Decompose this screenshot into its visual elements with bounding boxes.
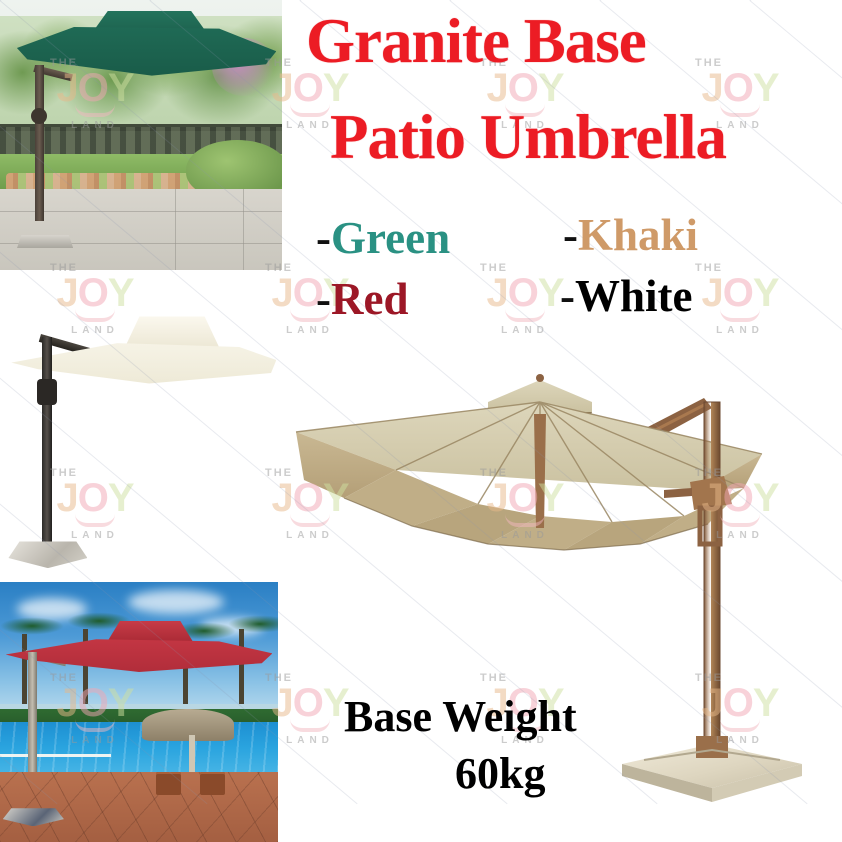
base-weight-label: Base Weight <box>344 695 577 739</box>
watermark-joy: JOY <box>486 274 563 312</box>
watermark-hairline <box>450 0 842 1</box>
color-option-label: Red <box>331 274 409 324</box>
pool-edge <box>0 754 111 757</box>
watermark-joy: JOY <box>701 274 778 312</box>
watermark-joy: JOY <box>701 69 778 107</box>
watermark-arc <box>720 309 760 322</box>
color-option-label: White <box>575 271 693 321</box>
color-option-label: Green <box>331 213 450 263</box>
watermark-the: THE <box>480 263 508 274</box>
color-option-khaki[interactable]: -Khaki <box>563 213 698 258</box>
color-option-red[interactable]: -Red <box>316 277 409 322</box>
watermark-hairline <box>750 0 842 1</box>
paving-line <box>243 189 244 270</box>
watermark-the: THE <box>695 263 723 274</box>
product-photo-green <box>0 0 282 270</box>
product-title-line-1: Granite Base <box>306 12 646 72</box>
watermark-land: LAND <box>286 120 334 131</box>
color-option-dash: - <box>563 210 578 260</box>
watermark-land: LAND <box>716 325 764 336</box>
color-option-dash: - <box>316 213 331 263</box>
product-photo-khaki-main <box>292 358 842 828</box>
watermark-logo: THEJOYLAND <box>681 253 799 345</box>
watermark-arc <box>505 309 545 322</box>
watermark-land: LAND <box>286 325 334 336</box>
color-option-dash: - <box>560 271 575 321</box>
product-photo-white <box>0 278 282 574</box>
color-option-label: Khaki <box>578 210 698 260</box>
watermark-hairline <box>600 0 842 1</box>
color-option-green[interactable]: -Green <box>316 216 450 261</box>
color-option-dash: - <box>316 274 331 324</box>
product-image-canvas: Granite Base Patio Umbrella -Green -Khak… <box>0 0 842 842</box>
palm-trunk <box>239 629 244 712</box>
watermark-hairline <box>300 0 842 1</box>
base-weight-value: 60kg <box>455 752 545 796</box>
palm-trunk <box>22 634 27 712</box>
sun-lounger <box>156 772 181 795</box>
umbrella-pole <box>35 65 44 222</box>
granite-base <box>17 235 73 249</box>
granite-base <box>622 736 802 802</box>
tilt-hub <box>31 108 47 124</box>
umbrella-pole <box>704 402 720 752</box>
paving-line <box>175 189 176 270</box>
stone-deck <box>0 772 278 842</box>
product-title-line-2: Patio Umbrella <box>330 108 726 168</box>
tilt-hub <box>37 379 57 405</box>
watermark-land: LAND <box>501 325 549 336</box>
watermark-the: THE <box>695 58 723 69</box>
umbrella-canopy <box>296 402 762 550</box>
color-option-white[interactable]: -White <box>560 274 693 319</box>
umbrella-pole <box>42 337 52 544</box>
sun-lounger <box>200 772 225 795</box>
watermark-arc <box>290 104 330 117</box>
product-photo-red <box>0 582 278 842</box>
